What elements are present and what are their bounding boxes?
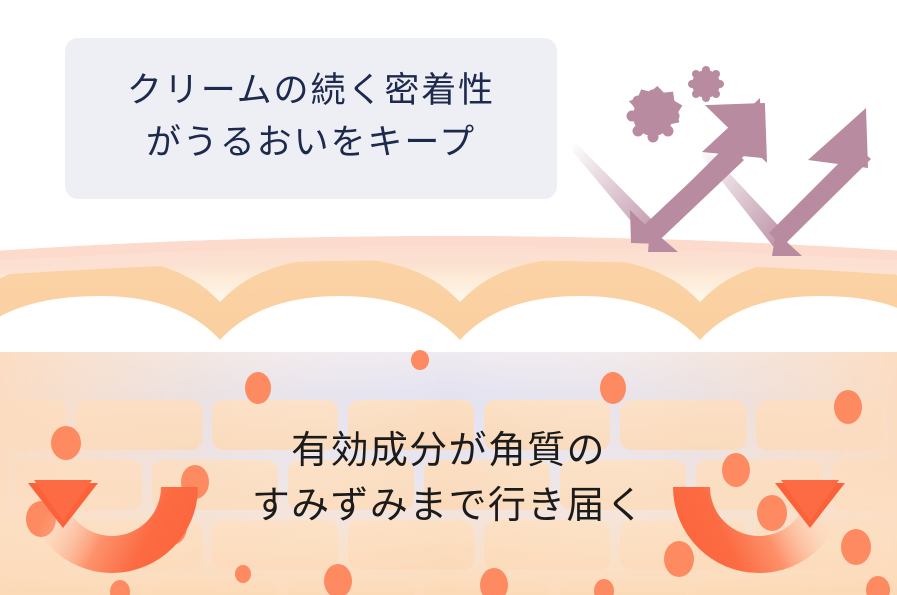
penetration-arrow-right (673, 480, 845, 573)
infographic-canvas: クリームの続く密着性 がうるおいをキープ 有効成分が角質の すみずみまで行き届く (0, 0, 897, 595)
callout-line-1: クリームの続く密着性 (127, 65, 495, 117)
cream-adhesion-callout: クリームの続く密着性 がうるおいをキープ (65, 38, 557, 199)
callout-line-2: がうるおいをキープ (146, 117, 476, 169)
penetration-arrow-left (26, 347, 291, 573)
